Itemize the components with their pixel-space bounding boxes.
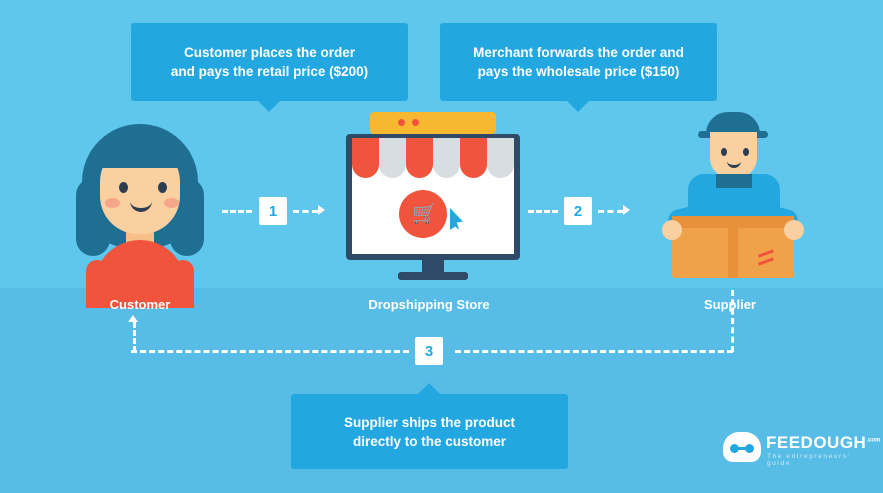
package-box-tape: [728, 216, 738, 278]
flow-arrow-3-head: [128, 315, 138, 322]
supplier-face-icon: [710, 132, 757, 178]
flow-arrow-1-head: [318, 205, 325, 215]
label-dropshipping-store: Dropshipping Store: [349, 297, 509, 312]
customer-illustration: [74, 120, 206, 285]
store-awning-icon: [352, 138, 514, 178]
flow-arrow-3-right: [455, 350, 733, 353]
bubble-1-tail: [258, 101, 280, 112]
feedough-logo-name: FEEDOUGH: [766, 433, 866, 452]
flow-arrow-2-left: [528, 210, 558, 213]
step-number-2: 2: [564, 197, 592, 225]
store-sign-dot-2-icon: [412, 119, 419, 126]
label-customer: Customer: [70, 297, 210, 312]
bubble-3-line-1: Supplier ships the product: [344, 413, 515, 432]
flow-arrow-2-right: [598, 210, 623, 213]
supplier-illustration: [658, 112, 808, 284]
flow-arrow-3-vertical-left: [133, 322, 136, 352]
bubble-1-line-1: Customer places the order: [171, 43, 368, 62]
bubble-3-line-2: directly to the customer: [344, 432, 515, 451]
shopping-cart-icon: 🛒: [412, 204, 437, 224]
callout-bubble-customer-order: Customer places the order and pays the r…: [131, 23, 408, 101]
feedough-logo-text: FEEDOUGH.com: [766, 433, 880, 453]
store-sign-dot-1-icon: [398, 119, 405, 126]
supplier-eye-left-icon: [721, 148, 727, 156]
supplier-hand-right: [784, 220, 804, 240]
bubble-3-tail: [418, 383, 440, 394]
callout-bubble-merchant-order: Merchant forwards the order and pays the…: [440, 23, 717, 101]
supplier-eye-right-icon: [743, 148, 749, 156]
customer-cheek-right-icon: [164, 198, 179, 208]
customer-eye-right-icon: [158, 182, 167, 193]
flow-arrow-1-left: [222, 210, 252, 213]
supplier-hand-left: [662, 220, 682, 240]
supplier-collar: [716, 174, 752, 188]
customer-fringe-icon: [96, 134, 184, 168]
bubble-2-line-1: Merchant forwards the order and: [473, 43, 684, 62]
step-number-1: 1: [259, 197, 287, 225]
callout-bubble-supplier-ships: Supplier ships the product directly to t…: [291, 394, 568, 469]
bubble-2-tail: [567, 101, 589, 112]
bubble-1-line-2: and pays the retail price ($200): [171, 62, 368, 81]
store-sign: [370, 112, 496, 134]
feedough-logo[interactable]: FEEDOUGH.com The entrepreneurs' guide: [723, 428, 868, 472]
flow-arrow-2-head: [623, 205, 630, 215]
feedough-logo-superscript: .com: [866, 437, 880, 443]
flow-arrow-3-left: [131, 350, 409, 353]
bubble-2-line-2: pays the wholesale price ($150): [473, 62, 684, 81]
feedough-logo-tagline: The entrepreneurs' guide: [767, 453, 868, 467]
customer-eye-left-icon: [119, 182, 128, 193]
customer-cheek-left-icon: [105, 198, 120, 208]
label-supplier: Supplier: [660, 297, 800, 312]
feedough-logo-bar-icon: [737, 447, 747, 450]
step-number-3: 3: [415, 337, 443, 365]
flow-arrow-1-right: [293, 210, 318, 213]
store-monitor-base: [398, 272, 468, 280]
dropshipping-store-illustration: 🛒: [340, 112, 526, 284]
flow-arrow-3-vertical-right: [731, 290, 734, 352]
